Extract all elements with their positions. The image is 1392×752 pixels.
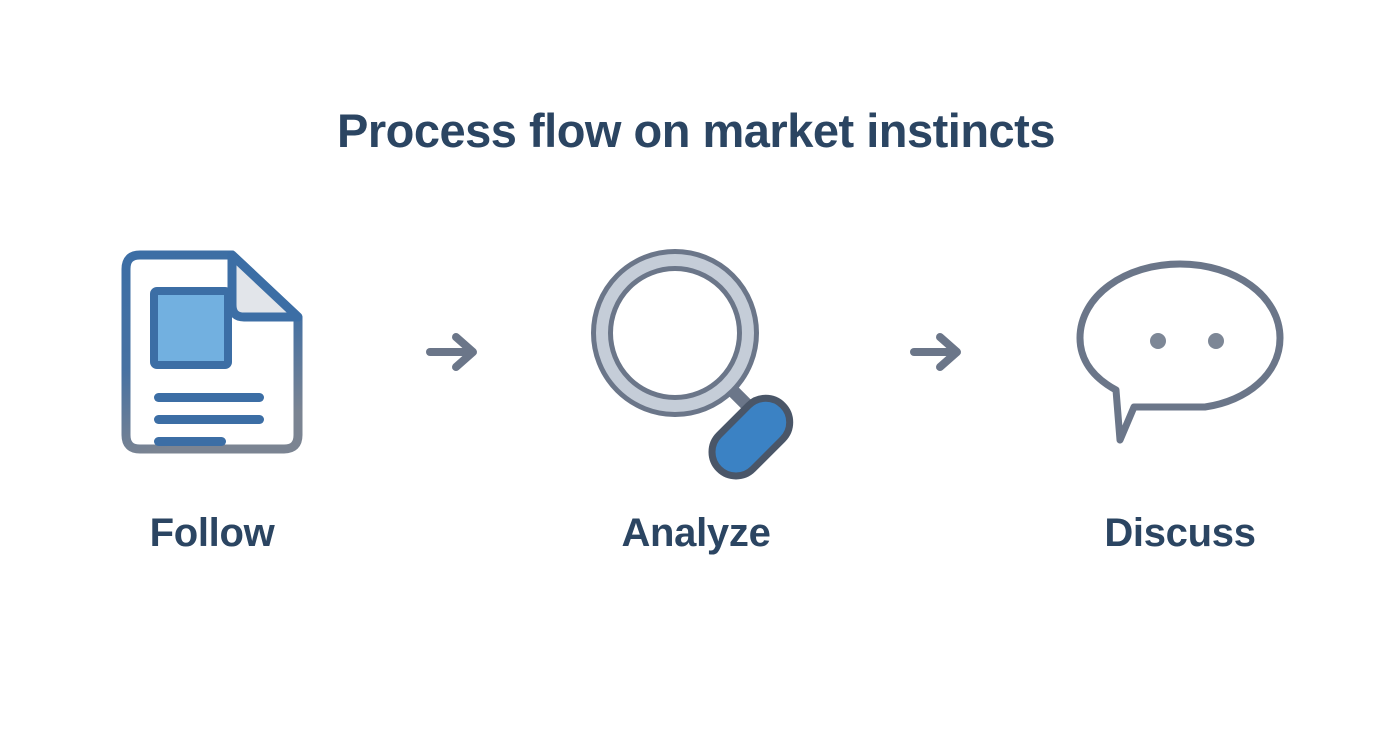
arrow-right-icon (908, 330, 968, 374)
magnifying-glass-icon (587, 245, 805, 460)
flow-step-analyze[interactable] (580, 236, 812, 468)
arrow-right-icon (424, 330, 484, 374)
flow-connector-2 (895, 317, 981, 387)
flow-labels-row: Follow Analyze Discuss (96, 502, 1296, 564)
flow-icons-row (96, 236, 1296, 468)
speech-dot-right (1208, 333, 1224, 349)
flow-step-follow[interactable] (96, 236, 328, 468)
flow-step-discuss[interactable] (1064, 236, 1296, 468)
speech-dot-left (1150, 333, 1166, 349)
flow-label-analyze: Analyze (580, 511, 812, 556)
page-title: Process flow on market instincts (0, 105, 1392, 157)
flow-label-discuss: Discuss (1064, 511, 1296, 556)
speech-bubble-icon (1072, 256, 1288, 448)
flow-label-follow: Follow (96, 511, 328, 556)
document-icon (112, 247, 312, 457)
infographic-canvas: Process flow on market instincts (0, 0, 1392, 752)
flow-connector-1 (411, 317, 497, 387)
